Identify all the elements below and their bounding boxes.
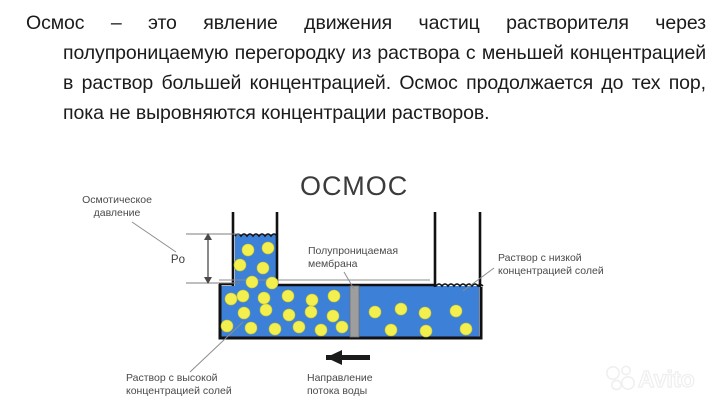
- osmosis-diagram: ОСМОС: [0, 165, 720, 404]
- low-concentration-label-line1: Раствор с низкой: [498, 252, 582, 264]
- osmotic-pressure-leader: [132, 222, 176, 252]
- low-concentration-label-line2: концентрацией солей: [498, 265, 604, 277]
- membrane-label-line1: Полупроницаемая: [308, 245, 398, 257]
- right-liquid-surface: [436, 284, 483, 286]
- right-tube-solution-fill: [436, 286, 479, 298]
- flow-direction-label-line2: потока воды: [307, 385, 367, 397]
- high-concentration-leader: [190, 322, 243, 372]
- osmotic-pressure-label-line2: давление: [94, 207, 141, 219]
- high-concentration-label-line1: Раствор с высокой: [126, 372, 218, 384]
- diagram-title: ОСМОС: [300, 171, 408, 201]
- water-flow-arrow: [326, 350, 370, 365]
- osmotic-pressure-label-line1: Осмотическое: [82, 194, 152, 206]
- flow-direction-label-line1: Направление: [307, 372, 373, 384]
- membrane-label-line2: мембрана: [308, 258, 358, 270]
- semipermeable-membrane: [350, 286, 359, 337]
- po-label: Po: [171, 254, 185, 266]
- slide-paragraph: Осмос – это явление движения частиц раст…: [26, 8, 706, 128]
- slide-text-block: Осмос – это явление движения частиц раст…: [0, 0, 720, 165]
- slide-paragraph-text: Осмос – это явление движения частиц раст…: [26, 8, 706, 128]
- high-concentration-label-line2: концентрацией солей: [126, 385, 232, 397]
